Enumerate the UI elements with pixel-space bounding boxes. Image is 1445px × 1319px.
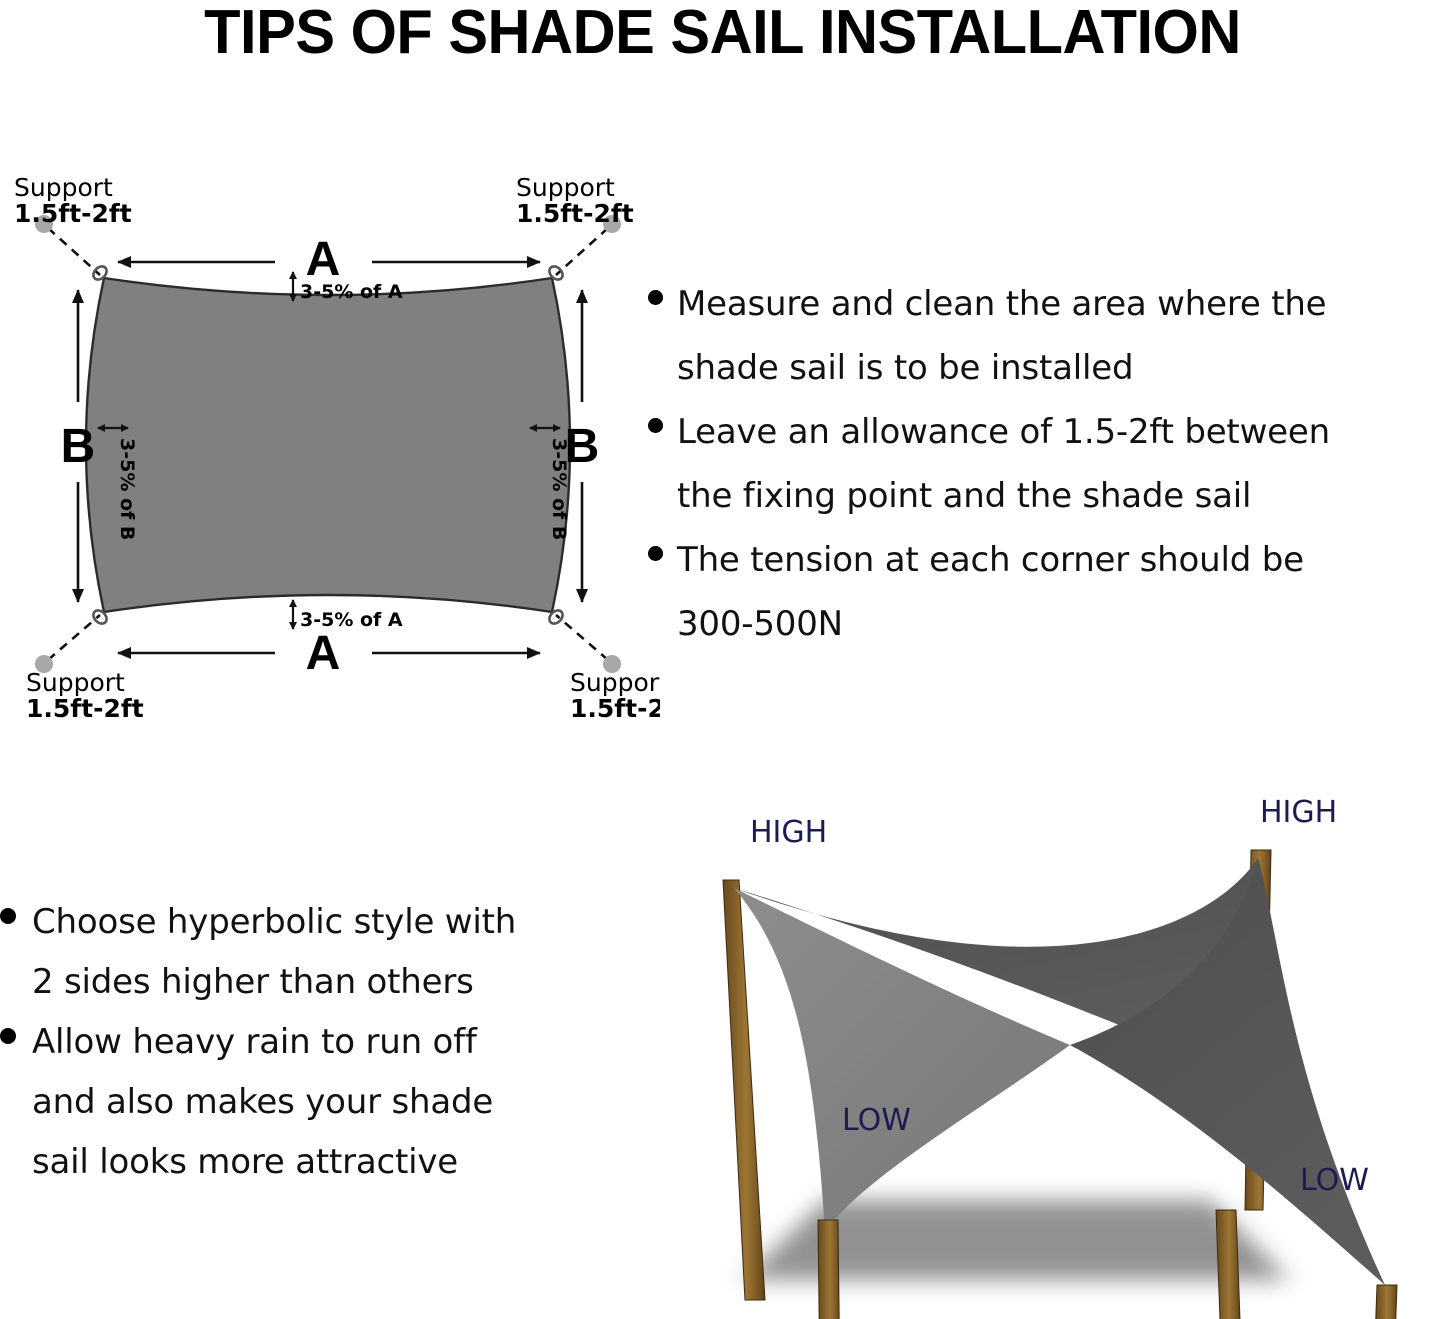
dimension-letter-bottom: A	[306, 627, 341, 680]
list-item: Allow heavy rain to run off and also mak…	[0, 1012, 620, 1192]
list-item: The tension at each corner should be 300…	[648, 528, 1445, 656]
tips-list-bottom: Choose hyperbolic style with 2 sides hig…	[0, 892, 620, 1192]
dimension-letter-top: A	[306, 233, 341, 286]
tips-list-right: Measure and clean the area where the sha…	[648, 272, 1445, 656]
label-low-right: LOW	[1300, 1163, 1369, 1198]
support-label-top-left-line1: Support	[14, 173, 113, 202]
support-label-bottom-left: Support 1.5ft-2ft	[26, 668, 144, 723]
list-item: Leave an allowance of 1.5-2ft between th…	[648, 400, 1445, 528]
tip-text: Measure and clean the area where the sha…	[677, 272, 1445, 400]
post-left-low	[818, 1220, 840, 1319]
hyperbolic-shade-sail-illustration: HIGH HIGH LOW LOW	[650, 780, 1445, 1319]
bullet-dot-icon	[648, 418, 663, 433]
post-right-low	[1375, 1285, 1397, 1319]
support-label-top-left: Support 1.5ft-2ft	[14, 173, 132, 228]
tip-line: the fixing point and the shade sail	[677, 476, 1251, 516]
tip-text: Leave an allowance of 1.5-2ft between th…	[677, 400, 1445, 528]
support-label-bottom-right-line2: 1.5ft-2ft	[570, 694, 660, 723]
curvature-label-left: 3-5% of B	[116, 438, 138, 540]
support-marker-bottom-right	[556, 615, 621, 673]
tip-line: Allow heavy rain to run off	[32, 1022, 477, 1062]
support-label-bottom-right-line1: Support	[570, 668, 660, 697]
list-item: Measure and clean the area where the sha…	[648, 272, 1445, 400]
support-label-bottom-left-line1: Support	[26, 668, 125, 697]
tip-line: Measure and clean the area where the	[677, 284, 1326, 324]
tip-text: The tension at each corner should be 300…	[677, 528, 1445, 656]
label-high-right: HIGH	[1260, 795, 1337, 830]
support-label-top-right-line2: 1.5ft-2ft	[516, 199, 634, 228]
tip-line: sail looks more attractive	[32, 1142, 458, 1182]
curvature-label-right: 3-5% of B	[548, 438, 570, 540]
tip-line: shade sail is to be installed	[677, 348, 1133, 388]
tip-line: 2 sides higher than others	[32, 962, 474, 1002]
tip-line: and also makes your shade	[32, 1082, 493, 1122]
list-item: Choose hyperbolic style with 2 sides hig…	[0, 892, 620, 1012]
bullet-dot-icon	[0, 1028, 16, 1044]
bullet-dot-icon	[0, 908, 16, 924]
support-label-top-right: Support 1.5ft-2ft	[516, 173, 634, 228]
tip-line: Choose hyperbolic style with	[32, 902, 516, 942]
post-left-high	[723, 880, 765, 1300]
curvature-label-top: 3-5% of A	[300, 281, 403, 303]
support-label-top-left-line2: 1.5ft-2ft	[14, 199, 132, 228]
curvature-label-bottom: 3-5% of A	[300, 609, 403, 631]
bullet-dot-icon	[648, 290, 663, 305]
tip-line: Leave an allowance of 1.5-2ft between	[677, 412, 1330, 452]
shade-sail-shape	[86, 278, 570, 612]
support-label-bottom-right: Support 1.5ft-2ft	[570, 668, 660, 723]
dimension-letter-left: B	[61, 420, 96, 473]
bullet-dot-icon	[648, 546, 663, 561]
tip-line: The tension at each corner should be	[677, 540, 1304, 580]
tip-text: Choose hyperbolic style with 2 sides hig…	[32, 892, 620, 1012]
tip-line: 300-500N	[677, 604, 843, 644]
label-high-left: HIGH	[750, 815, 827, 850]
label-low-left: LOW	[842, 1103, 911, 1138]
support-label-bottom-left-line2: 1.5ft-2ft	[26, 694, 144, 723]
support-marker-bottom-left	[35, 615, 100, 673]
support-label-top-right-line1: Support	[516, 173, 615, 202]
rectangular-shade-sail-dimension-diagram: A 3-5% of A A 3-5% of A B 3-5% of B B 3-…	[0, 160, 660, 730]
page-title: TIPS OF SHADE SAIL INSTALLATION	[29, 0, 1416, 70]
tip-text: Allow heavy rain to run off and also mak…	[32, 1012, 620, 1192]
post-mid-right	[1216, 1210, 1240, 1319]
